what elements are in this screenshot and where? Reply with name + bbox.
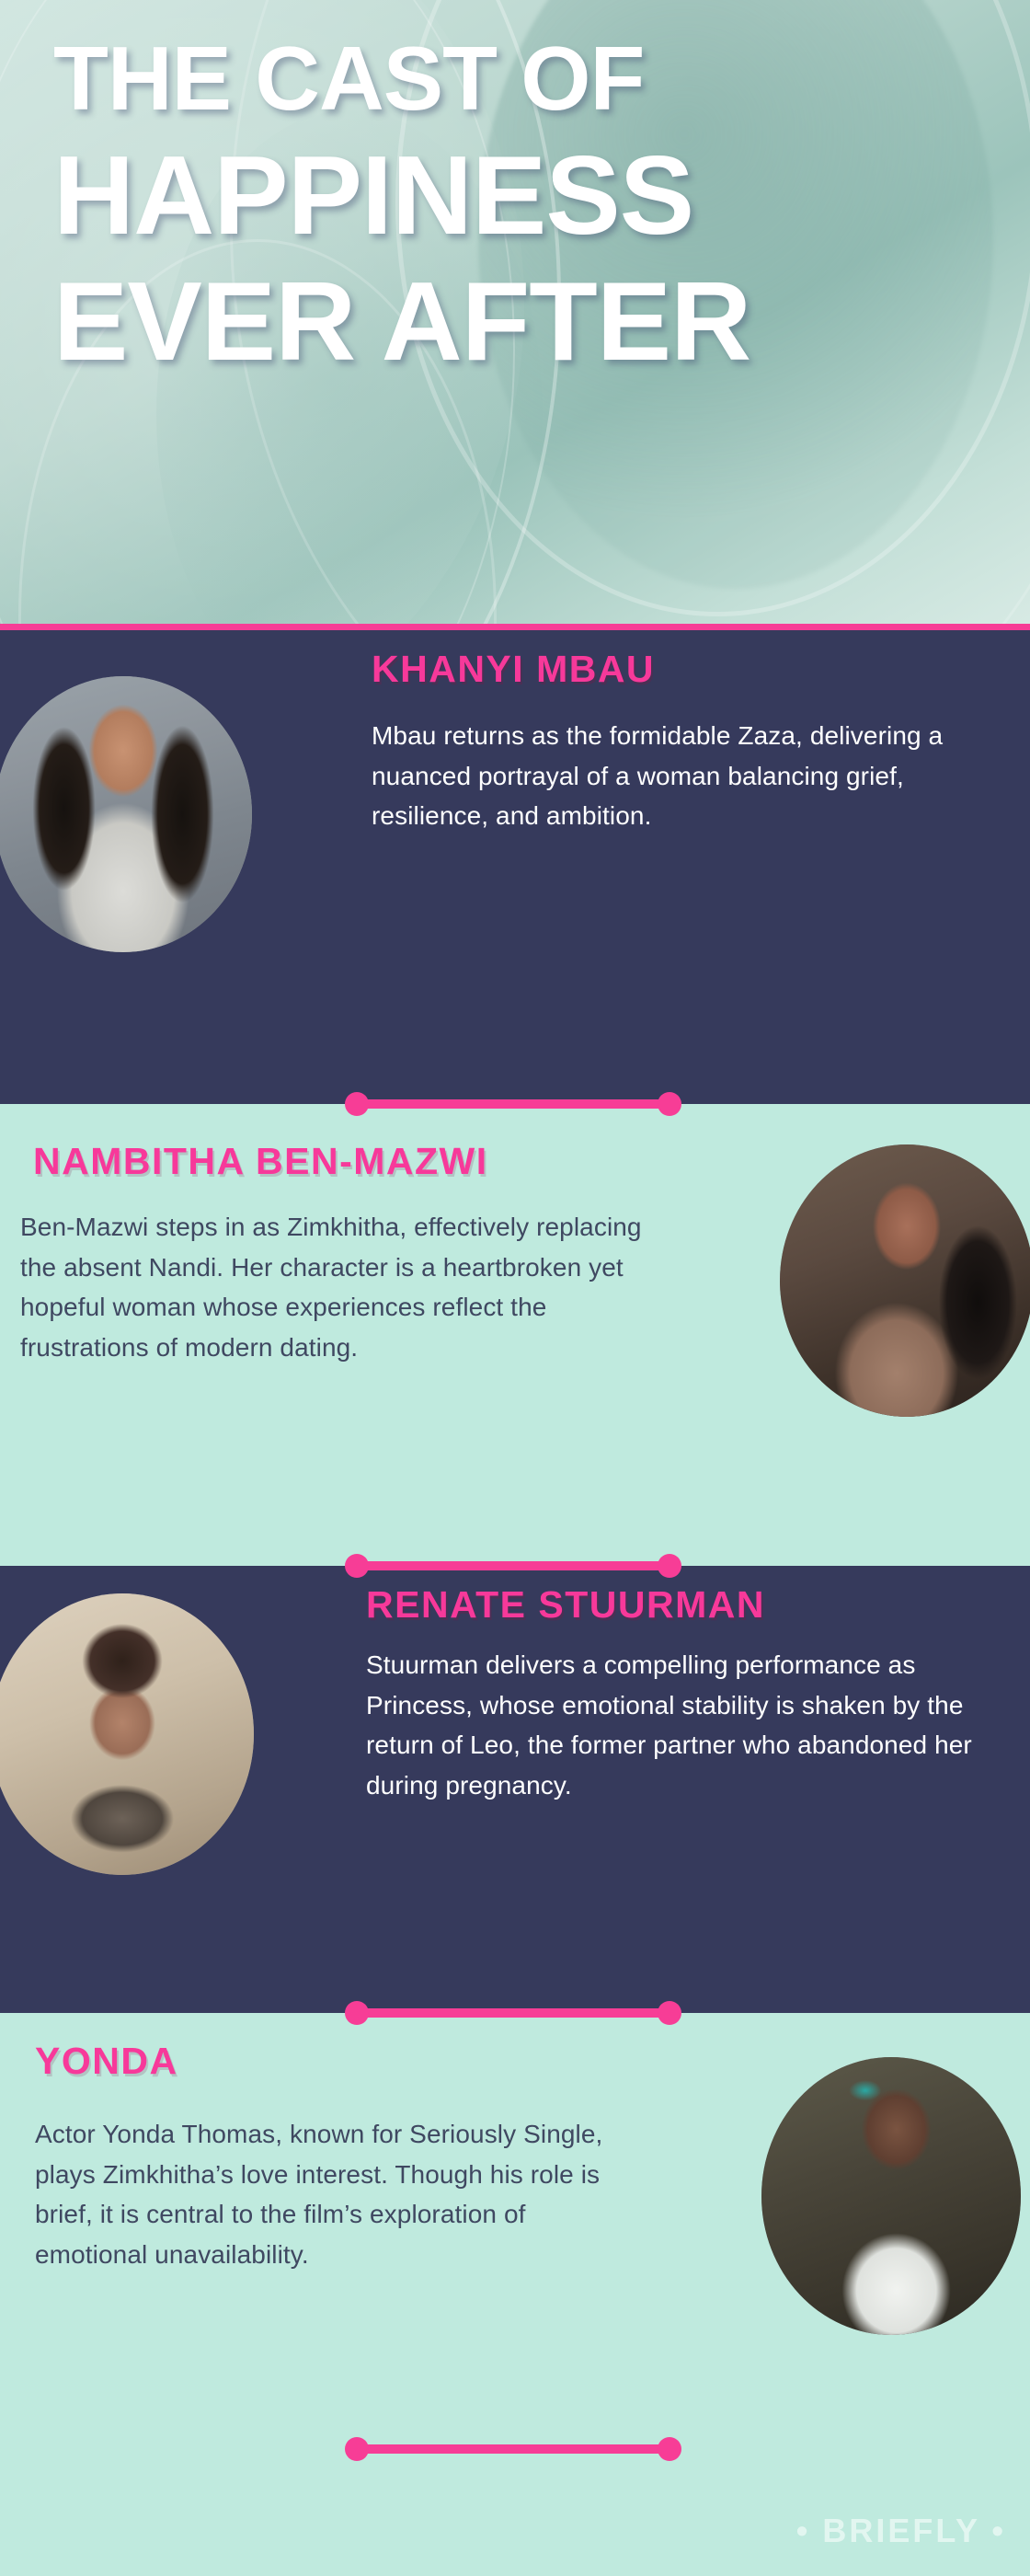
avatar (780, 1144, 1030, 1417)
header-banner: THE CAST OF HAPPINESS EVER AFTER (0, 0, 1030, 624)
title-line-2: HAPPINESS (53, 142, 988, 249)
cast-name-2: NAMBITHA BEN-MAZWI (33, 1143, 488, 1180)
avatar (761, 2057, 1021, 2335)
cast-bio-2: Ben-Mazwi steps in as Zimkhitha, effecti… (20, 1207, 655, 1368)
page-title: THE CAST OF HAPPINESS EVER AFTER (0, 35, 1030, 375)
cast-name-3: RENATE STUURMAN (366, 1586, 765, 1624)
yonda-thomas-portrait-image (761, 2057, 1021, 2335)
cast-section-khanyi-mbau: KHANYI MBAU Mbau returns as the formidab… (0, 630, 1030, 1104)
title-line-1: THE CAST OF (53, 35, 988, 121)
avatar (0, 676, 252, 952)
infographic-root: THE CAST OF HAPPINESS EVER AFTER KHANYI … (0, 0, 1030, 2576)
cast-bio-3: Stuurman delivers a compelling performan… (366, 1645, 973, 1806)
cast-name-4: YONDA (35, 2042, 178, 2080)
header-pink-stripe (0, 624, 1030, 630)
khanyi-mbau-portrait-image (0, 676, 252, 952)
cast-section-yonda: YONDA Actor Yonda Thomas, known for Seri… (0, 2013, 1030, 2576)
cast-section-renate-stuurman: RENATE STUURMAN Stuurman delivers a comp… (0, 1566, 1030, 2013)
briefly-watermark: • BRIEFLY • (796, 2512, 1006, 2550)
cast-bio-1: Mbau returns as the formidable Zaza, del… (372, 716, 960, 836)
title-line-3: EVER AFTER (53, 268, 988, 375)
cast-bio-4: Actor Yonda Thomas, known for Seriously … (35, 2114, 624, 2275)
renate-stuurman-portrait-image (0, 1593, 254, 1875)
cast-section-nambitha-ben-mazwi: NAMBITHA BEN-MAZWI Ben-Mazwi steps in as… (0, 1104, 1030, 1566)
nambitha-ben-mazwi-portrait-image (780, 1144, 1030, 1417)
cast-name-1: KHANYI MBAU (372, 650, 655, 688)
avatar (0, 1593, 254, 1875)
